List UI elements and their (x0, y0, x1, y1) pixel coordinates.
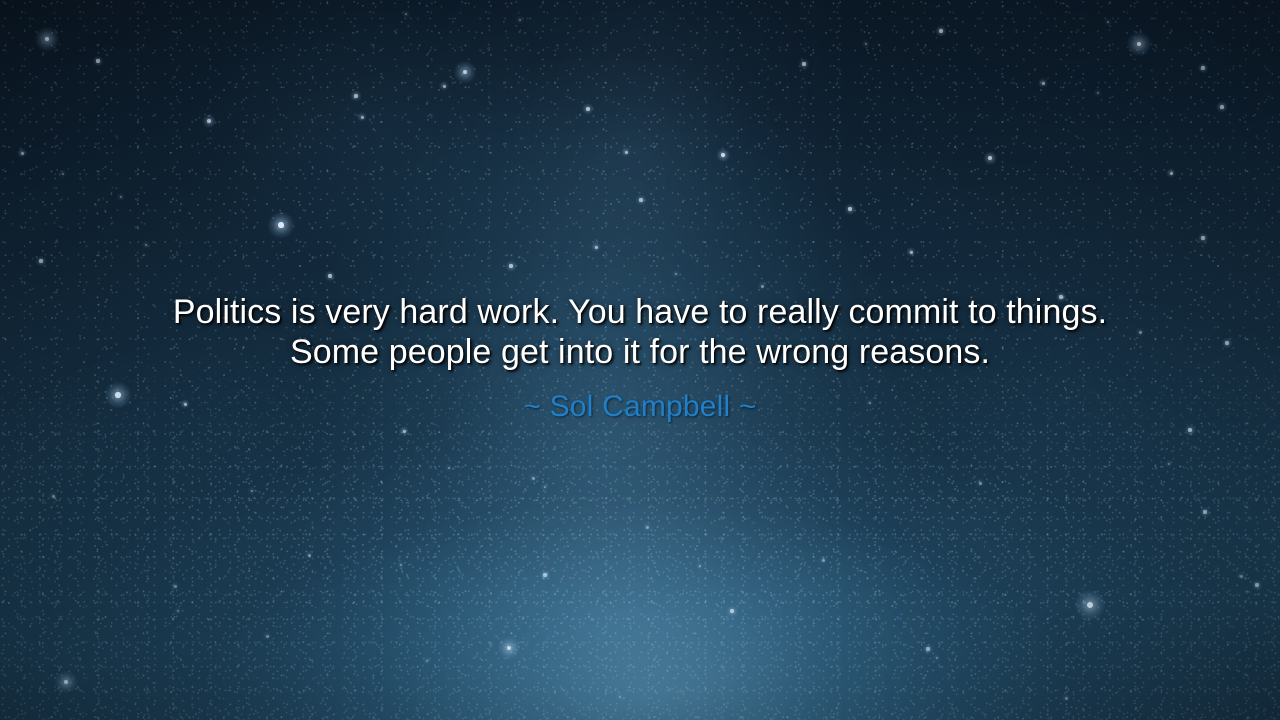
quote-text: Politics is very hard work. You have to … (135, 292, 1145, 372)
quote-wallpaper-scene: Politics is very hard work. You have to … (0, 0, 1280, 720)
quote-block: Politics is very hard work. You have to … (0, 292, 1280, 425)
quote-author: ~ Sol Campbell ~ (60, 389, 1220, 425)
